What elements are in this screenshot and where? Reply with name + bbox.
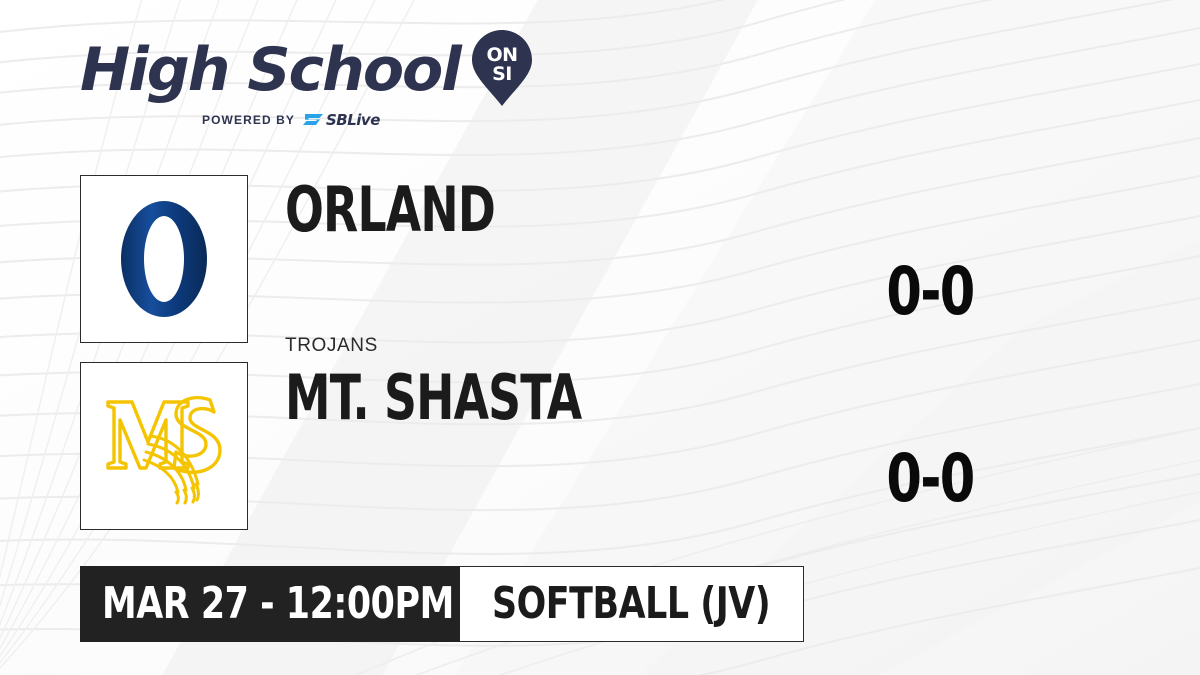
away-team-score: 0-0 xyxy=(835,259,1024,325)
on-si-pin-icon: ON SI xyxy=(470,28,534,108)
mt-shasta-ms-logo-icon xyxy=(98,384,230,508)
pin-si-text: SI xyxy=(492,63,512,85)
away-team-logo xyxy=(80,175,248,343)
team-row-away: ORLAND TROJANS 0-0 xyxy=(80,175,1120,345)
matchup-panel: ORLAND TROJANS 0-0 xyxy=(80,175,1120,537)
home-team-name: MT. SHASTA xyxy=(285,367,581,429)
brand-title-row: High School ON SI xyxy=(80,34,510,106)
game-sport-text: SOFTBALL (JV) xyxy=(492,581,770,627)
game-datetime-block: MAR 27 - 12:00PM xyxy=(80,566,460,642)
powered-by-row: POWERED BY SBLive xyxy=(202,110,510,129)
game-sport-block: SOFTBALL (JV) xyxy=(460,566,804,642)
game-datetime-text: MAR 27 - 12:00PM xyxy=(102,581,454,627)
brand-lockup: High School ON SI POWERED BY SBLive xyxy=(80,34,510,134)
sblive-wordmark-text: SBLive xyxy=(326,111,380,129)
away-team-mascot: TROJANS xyxy=(285,335,378,357)
scoreboard-graphic: High School ON SI POWERED BY SBLive xyxy=(0,0,1200,675)
sblive-logo-icon: SBLive xyxy=(303,110,411,129)
away-team-name: ORLAND xyxy=(285,179,495,241)
team-row-home: MT. SHASTA 0-0 xyxy=(80,362,1120,532)
game-info-bar: MAR 27 - 12:00PM SOFTBALL (JV) xyxy=(80,566,804,642)
brand-wordmark: High School xyxy=(80,39,460,101)
home-team-logo xyxy=(80,362,248,530)
orland-o-logo-icon xyxy=(104,194,224,324)
powered-by-label: POWERED BY xyxy=(202,113,295,127)
home-team-score: 0-0 xyxy=(835,446,1024,512)
